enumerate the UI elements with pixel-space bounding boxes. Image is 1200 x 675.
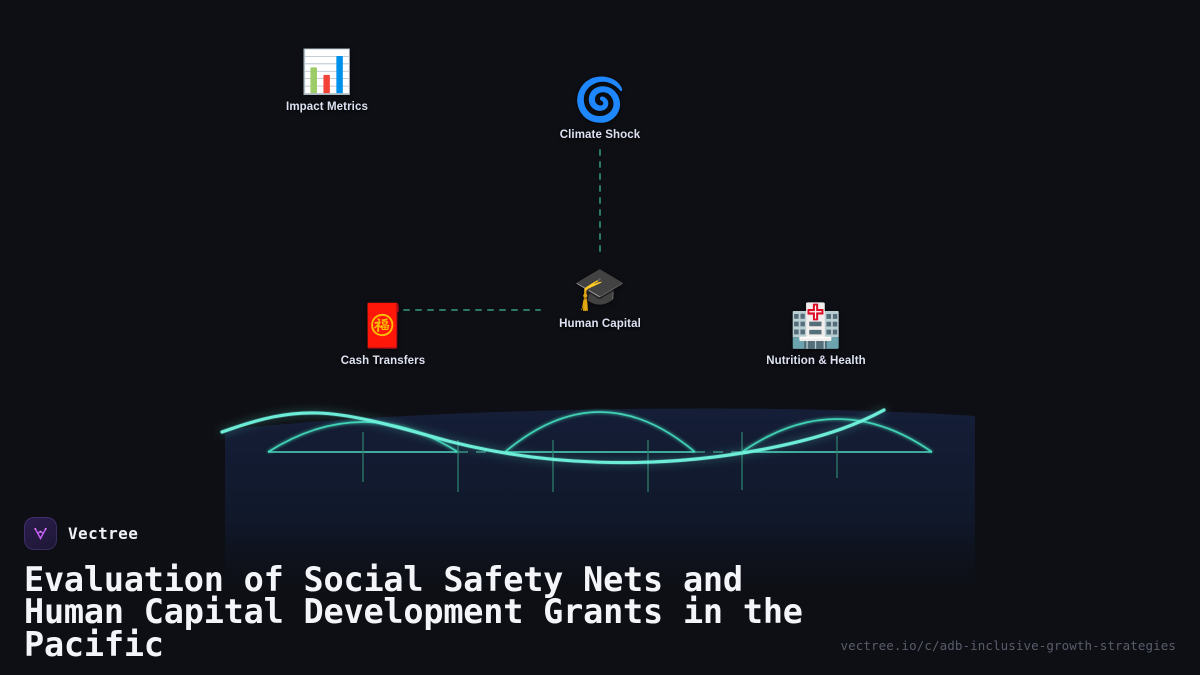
- share-card-canvas: 📊 Impact Metrics 🌀 Climate Shock 🎓 Human…: [0, 0, 1200, 675]
- page-title: Evaluation of Social Safety Nets and Hum…: [24, 564, 824, 662]
- share-url: vectree.io/c/adb-inclusive-growth-strate…: [840, 638, 1176, 653]
- graph-node-human-capital[interactable]: 🎓 Human Capital: [559, 266, 641, 330]
- graph-node-label: Climate Shock: [560, 129, 641, 141]
- logo-glyph: [31, 524, 50, 543]
- cyclone-icon: 🌀: [574, 77, 626, 123]
- graph-node-impact-metrics[interactable]: 📊 Impact Metrics: [286, 49, 368, 113]
- graph-node-nutrition-health[interactable]: 🏥 Nutrition & Health: [766, 303, 866, 367]
- red-envelope-icon: 🧧: [357, 303, 409, 349]
- brand-name: Vectree: [68, 524, 138, 543]
- vectree-v-logo-icon: [24, 517, 57, 550]
- graph-node-cash-transfers[interactable]: 🧧 Cash Transfers: [341, 303, 426, 367]
- graph-node-label: Nutrition & Health: [766, 355, 866, 367]
- graph-node-climate-shock[interactable]: 🌀 Climate Shock: [560, 77, 641, 141]
- graph-node-label: Impact Metrics: [286, 101, 368, 113]
- graph-node-label: Human Capital: [559, 318, 641, 330]
- brand-row[interactable]: Vectree: [24, 517, 1176, 550]
- graph-node-label: Cash Transfers: [341, 355, 426, 367]
- hospital-icon: 🏥: [790, 303, 842, 349]
- graduation-cap-icon: 🎓: [574, 266, 626, 312]
- bar-chart-icon: 📊: [301, 49, 353, 95]
